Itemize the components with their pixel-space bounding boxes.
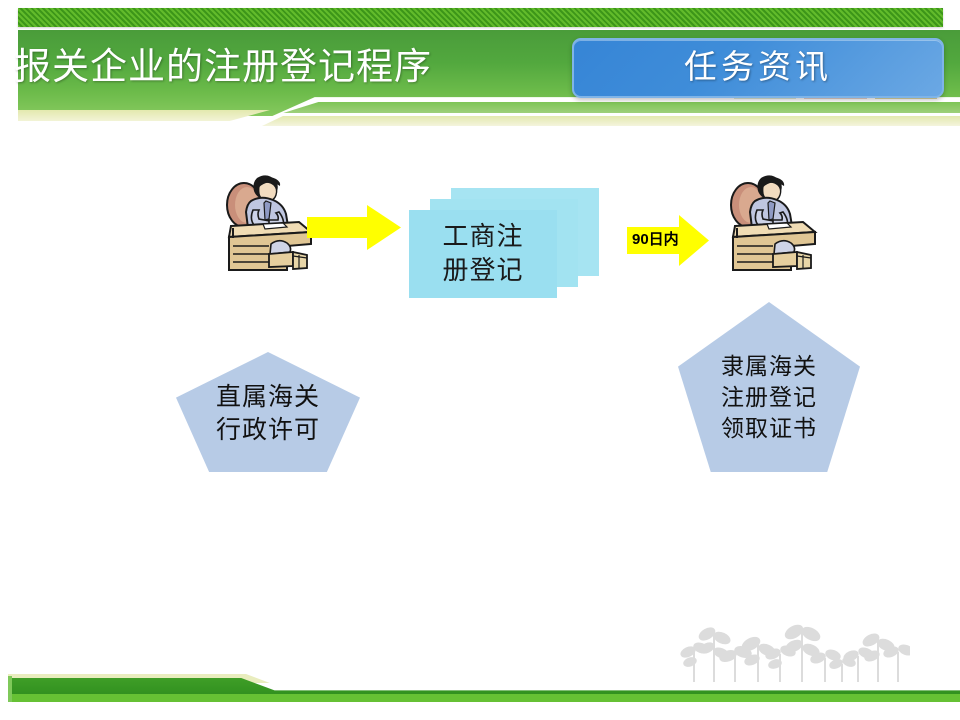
- pentagon-right-text: 隶属海关 注册登记 领取证书: [721, 351, 817, 444]
- pentagon-left-text: 直属海关 行政许可: [216, 381, 320, 447]
- person-at-desk-clipart-right: [717, 168, 823, 276]
- stacked-card-text: 工商注 册登记: [442, 220, 523, 288]
- stacked-card-text-line-1: 工商注: [442, 220, 523, 254]
- stacked-card-front: 工商注 册登记: [409, 210, 557, 298]
- pentagon-right-line-3: 领取证书: [721, 413, 817, 444]
- header-accent-left: [18, 110, 270, 121]
- stacked-card-text-line-2: 册登记: [442, 254, 523, 288]
- pentagon-right-line-1: 隶属海关: [721, 351, 817, 382]
- pentagon-direct-customs: 直属海关 行政许可: [176, 352, 360, 472]
- task-info-badge-label: 任务资讯: [684, 50, 832, 86]
- top-stripe-band: [18, 8, 943, 27]
- footer-bright-band: [8, 694, 960, 702]
- pentagon-left-line-1: 直属海关: [216, 381, 320, 414]
- footer-left-edge: [8, 676, 12, 702]
- stacked-cards-group: 工商注 册登记: [409, 188, 599, 300]
- arrow-duration-label: 90日内: [632, 228, 698, 249]
- header-accent-right: [262, 116, 960, 126]
- page-title: 报关企业的注册登记程序: [14, 44, 554, 92]
- pentagon-subordinate-customs: 隶属海关 注册登记 领取证书: [678, 302, 860, 472]
- header-step-right: [255, 102, 960, 113]
- pentagon-left-line-2: 行政许可: [216, 414, 320, 447]
- task-info-badge[interactable]: 任务资讯: [572, 38, 944, 98]
- sprout-plants-icon: [680, 620, 910, 682]
- pentagon-right-line-2: 注册登记: [721, 382, 817, 413]
- person-at-desk-clipart-left: [213, 168, 319, 276]
- slide-canvas: 报关企业的注册登记程序 任务资讯: [0, 0, 960, 720]
- arrow-right-large: [307, 205, 401, 250]
